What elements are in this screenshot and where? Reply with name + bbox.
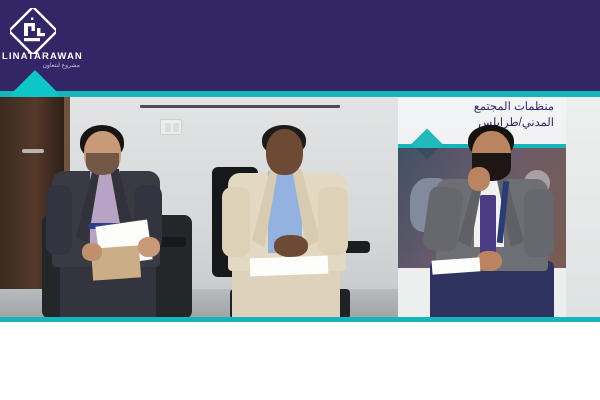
logo-row: مـركــز مــوارد منظمات المجتمع المـدني/ط…	[0, 322, 600, 400]
panelist-two-arm-right	[318, 187, 348, 255]
banner-heading-line1: منظمات المجتمع	[414, 99, 554, 115]
brand-name: LINATARAWAN	[2, 52, 80, 62]
whiteboard-edge	[140, 105, 340, 108]
panelist-one-arm-left	[46, 185, 72, 255]
kufic-square-logo-icon	[10, 8, 56, 54]
poster-canvas: LINATARAWAN مشروع لنتعاون منظمات المجتمع…	[0, 0, 600, 400]
panelist-two	[212, 119, 372, 319]
panelist-two-hands	[274, 235, 308, 257]
panelist-three	[424, 123, 570, 319]
panelist-one	[42, 119, 192, 319]
panelist-one-hand-right	[138, 237, 160, 257]
wall-right-strip	[566, 97, 600, 319]
footer-logo-bar: مـركــز مــوارد منظمات المجتمع المـدني/ط…	[0, 322, 600, 400]
door-handle-icon	[22, 149, 44, 153]
brand-logo: LINATARAWAN مشروع لنتعاون	[2, 8, 80, 70]
panelist-two-arm-left	[222, 187, 250, 257]
panelist-one-beard	[86, 153, 119, 175]
panelist-two-head	[266, 129, 303, 175]
panel-photograph: منظمات المجتمع المدني/طرابلس	[0, 97, 600, 319]
panelist-three-arm-right	[524, 189, 554, 257]
header-band: LINATARAWAN مشروع لنتعاون	[0, 0, 600, 93]
panelist-three-hand-chin	[468, 167, 490, 191]
panelist-one-hand-left	[82, 243, 102, 261]
panelist-two-papers	[250, 256, 329, 277]
brand-tagline: مشروع لنتعاون	[8, 63, 80, 70]
